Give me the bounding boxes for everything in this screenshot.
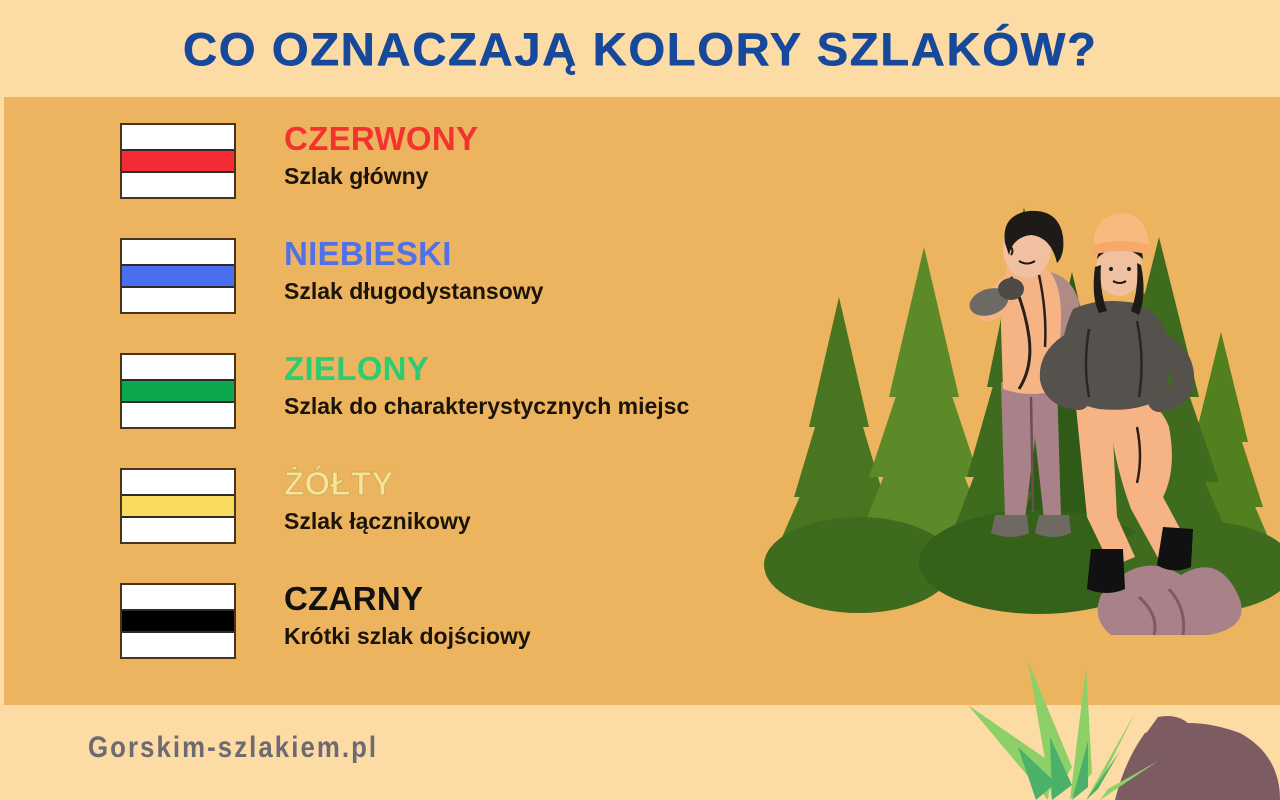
- legend-color-name: CZARNY: [284, 579, 531, 619]
- trail-marker-black: [120, 583, 236, 659]
- legend-text-green: ZIELONY Szlak do charakterystycznych mie…: [284, 349, 689, 421]
- trail-marker-green: [120, 353, 236, 429]
- legend-text-yellow: ŻÓŁTY Szlak łącznikowy: [284, 464, 471, 536]
- legend-item-green[interactable]: ZIELONY Szlak do charakterystycznych mie…: [120, 349, 780, 464]
- legend-color-name: CZERWONY: [284, 119, 478, 159]
- legend-item-red[interactable]: CZERWONY Szlak główny: [120, 119, 780, 234]
- trail-marker-blue: [120, 238, 236, 314]
- legend-color-description: Szlak do charakterystycznych miejsc: [284, 391, 689, 421]
- pine-forest-back: [769, 247, 1280, 587]
- legend-text-black: CZARNY Krótki szlak dojściowy: [284, 579, 531, 651]
- legend-item-blue[interactable]: NIEBIESKI Szlak długodystansowy: [120, 234, 780, 349]
- legend-color-description: Szlak główny: [284, 161, 478, 191]
- trail-marker-red: [120, 123, 236, 199]
- hiker-woman: [1051, 213, 1193, 593]
- hiker-man: [966, 211, 1084, 537]
- legend-color-name: ZIELONY: [284, 349, 689, 389]
- legend-color-description: Szlak długodystansowy: [284, 276, 543, 306]
- infographic-canvas: CO OZNACZAJĄ KOLORY SZLAKÓW?: [0, 0, 1280, 800]
- legend-item-black[interactable]: CZARNY Krótki szlak dojściowy: [120, 579, 780, 694]
- two-hikers-in-pine-forest-illustration: [739, 97, 1280, 705]
- trail-color-legend: CZERWONY Szlak główny NIEBIESKI Szlak dł…: [120, 119, 780, 694]
- pine-forest-front: [764, 207, 1280, 614]
- rock: [1098, 566, 1242, 635]
- legend-text-blue: NIEBIESKI Szlak długodystansowy: [284, 234, 543, 306]
- legend-color-description: Krótki szlak dojściowy: [284, 621, 531, 651]
- legend-item-yellow[interactable]: ŻÓŁTY Szlak łącznikowy: [120, 464, 780, 579]
- legend-color-name: ŻÓŁTY: [284, 464, 471, 504]
- trail-marker-yellow: [120, 468, 236, 544]
- footer-band: Gorskim-szlakiem.pl: [0, 705, 1280, 800]
- header-band: CO OZNACZAJĄ KOLORY SZLAKÓW?: [0, 0, 1280, 97]
- site-name: Gorskim-szlakiem.pl: [88, 731, 378, 765]
- legend-text-red: CZERWONY Szlak główny: [284, 119, 478, 191]
- legend-color-description: Szlak łącznikowy: [284, 506, 471, 536]
- page-title: CO OZNACZAJĄ KOLORY SZLAKÓW?: [183, 22, 1097, 76]
- legend-color-name: NIEBIESKI: [284, 234, 543, 274]
